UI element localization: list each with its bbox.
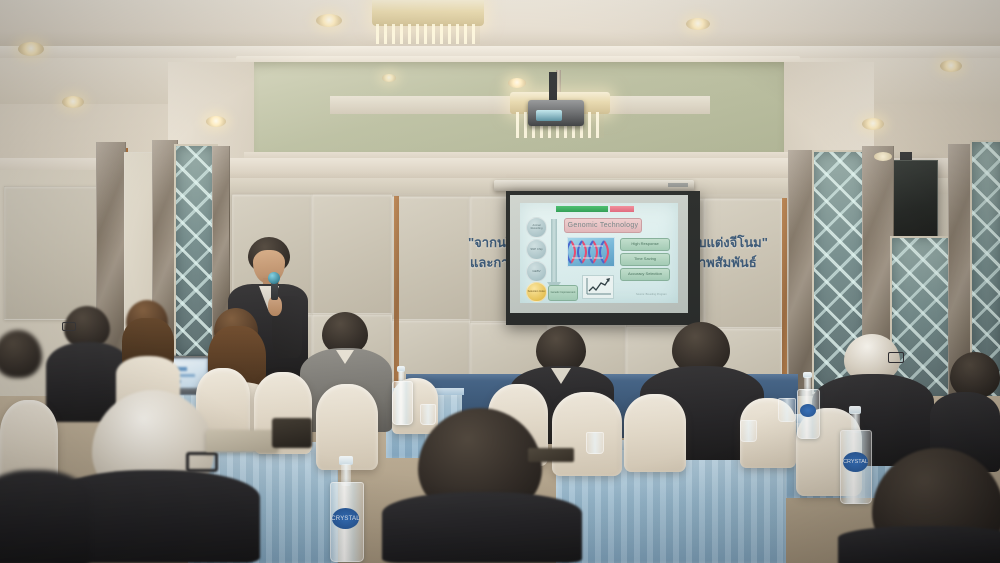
projection-screen[interactable]: Genomic Technology Animal Recording SNP … (506, 191, 700, 325)
slide-benefit-chip: Accuracy Selection (620, 268, 670, 281)
projector-mount (549, 72, 557, 102)
screen-roller-housing (494, 180, 694, 191)
slide-flow-circle: SNP Chip (526, 239, 547, 260)
slide-tab-green (556, 206, 608, 212)
downlight (62, 96, 84, 108)
slide-title: Genomic Technology (564, 218, 642, 233)
microphone-head (268, 272, 280, 284)
trend-line-icon (583, 276, 613, 298)
wall-trim-right (782, 198, 787, 398)
bottle-label: CRYSTAL (332, 508, 359, 529)
water-bottle[interactable] (392, 381, 413, 425)
screen-brand-mark (668, 183, 688, 187)
foreground-glasses (186, 452, 218, 472)
slide: Genomic Technology Animal Recording SNP … (520, 203, 678, 303)
handbag[interactable] (272, 418, 312, 448)
audience-glasses (888, 352, 904, 363)
ceiling-beam-right (784, 62, 874, 162)
downlight (18, 42, 44, 56)
downlight (874, 152, 892, 161)
downlight (508, 78, 526, 88)
slide-flow-arrow-shaft (551, 219, 557, 283)
audience-glasses (62, 322, 76, 331)
dna-helix-icon (568, 238, 614, 266)
slide-flow-box: Genetic Improvement (548, 285, 578, 301)
audience-head (950, 352, 1000, 398)
downlight (206, 116, 226, 127)
chair[interactable] (624, 394, 686, 472)
foreground-torso (838, 526, 1000, 563)
downlight (686, 18, 710, 30)
slide-benefit-chip: High Response (620, 238, 670, 251)
slide-trend-chart (582, 275, 614, 299)
bottle-label: CRYSTAL (843, 452, 868, 472)
wall-panel (312, 194, 392, 314)
screen-canvas: Genomic Technology Animal Recording SNP … (510, 195, 688, 313)
drinking-glass[interactable] (586, 432, 604, 454)
chandelier (372, 0, 484, 26)
ceiling-soffit-outer (0, 0, 1000, 52)
slide-footer: Source: Breeding Program (636, 293, 667, 296)
drinking-glass[interactable] (778, 398, 796, 422)
downlight (316, 14, 342, 27)
wall-panel (392, 196, 470, 320)
drinking-glass[interactable] (740, 420, 757, 442)
downlight (862, 118, 884, 130)
drinking-glass[interactable] (420, 404, 436, 425)
bottle-label (800, 404, 816, 417)
slide-benefit-chip: Time Saving (620, 253, 670, 266)
slide-flow-circle: GEBV (526, 261, 547, 282)
downlight (940, 60, 962, 72)
slide-flow-circle-highlight: Selection Index (526, 282, 547, 302)
photo-scene: "จากนโย และการ ปรับแต่งจีโนม" วภาพสัมพัน… (0, 0, 1000, 563)
chandelier-crystals (376, 24, 480, 44)
document-papers[interactable] (528, 448, 574, 462)
slide-flow-circle: Animal Recording (526, 217, 547, 238)
dna-image (567, 237, 615, 267)
document-papers[interactable] (206, 430, 278, 452)
projector-lens (536, 110, 562, 121)
slide-tab-pink (610, 206, 634, 212)
foreground-shoulder (0, 470, 90, 563)
downlight (382, 74, 396, 82)
foreground-torso (382, 492, 582, 563)
